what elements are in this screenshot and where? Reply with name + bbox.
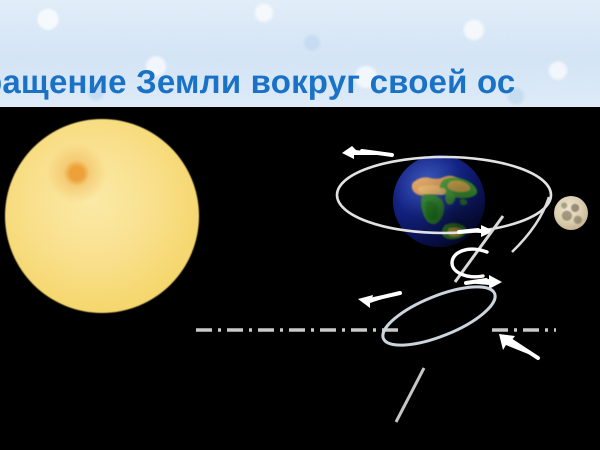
slide-canvas: ращение Земли вокруг своей ос (0, 0, 600, 450)
earth-object (393, 155, 485, 247)
earth-sphere (393, 155, 485, 247)
moon-sphere (554, 196, 588, 230)
earth-landmasses (393, 155, 485, 247)
sun-sphere (5, 119, 199, 313)
slide-title: ращение Земли вокруг своей ос (0, 60, 600, 104)
